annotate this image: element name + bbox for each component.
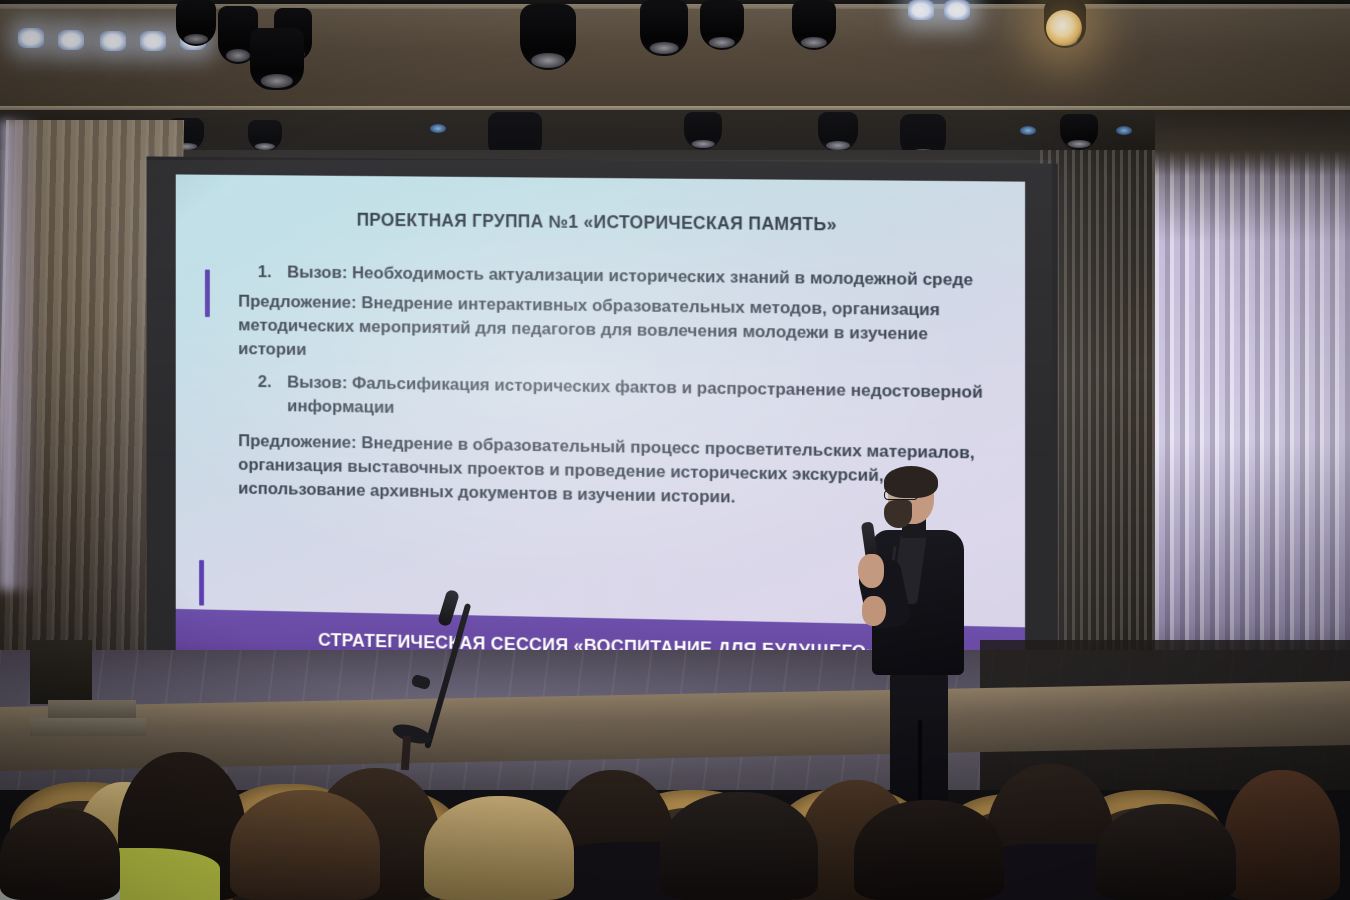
slide-paragraph: Предложение: Внедрение интерактивных обр… <box>232 290 990 372</box>
strip-lamp-icon <box>908 0 934 20</box>
strip-lamp-icon <box>18 28 44 48</box>
spotlight-can-icon <box>684 112 722 150</box>
spotlight-can-icon <box>700 0 744 50</box>
audience-head <box>854 800 1004 900</box>
curtain-left-glow <box>0 120 40 590</box>
curtain-right-header <box>1155 110 1350 176</box>
presenter-hair <box>884 466 938 498</box>
presenter-hand-lower <box>862 596 886 626</box>
audience-head <box>660 792 818 900</box>
slide-list-item: 2. Вызов: Фальсификация исторических фак… <box>232 369 990 429</box>
presenter-beard <box>884 500 912 528</box>
spotlight-can-icon <box>640 0 688 56</box>
moving-head-light-icon <box>250 28 304 90</box>
strip-lamp-icon <box>100 31 126 51</box>
blue-indicator-icon <box>1116 126 1132 135</box>
spotlight-can-icon <box>176 0 216 46</box>
auditorium-scene: ПРОЕКТНАЯ ГРУППА №1 «ИСТОРИЧЕСКАЯ ПАМЯТЬ… <box>0 0 1350 900</box>
blue-indicator-icon <box>430 124 446 133</box>
audience <box>0 700 1350 900</box>
strip-lamp-icon <box>140 31 166 51</box>
mic-stand-clamp <box>411 674 432 690</box>
stage-curtain-right-inner <box>1040 150 1160 710</box>
list-text: Вызов: Фальсификация исторических фактов… <box>287 370 990 429</box>
slide-accent-bar-bottom <box>199 560 204 606</box>
slide-list-item: 1. Вызов: Необходимость актуализации ист… <box>232 260 990 293</box>
stage-wall-pillar <box>30 640 92 704</box>
list-marker: 2. <box>258 370 287 418</box>
spotlight-can-icon <box>818 112 858 152</box>
list-marker: 1. <box>258 260 287 284</box>
audience-head <box>424 796 574 900</box>
slide-title: ПРОЕКТНАЯ ГРУППА №1 «ИСТОРИЧЕСКАЯ ПАМЯТЬ… <box>176 208 1025 237</box>
slide-accent-bar-top <box>205 270 210 318</box>
list-text: Вызов: Необходимость актуализации истори… <box>287 261 990 293</box>
spotlight-can-icon <box>792 0 836 50</box>
moving-head-light-icon <box>520 4 576 70</box>
audience-head <box>1096 804 1236 900</box>
audience-head <box>0 808 120 900</box>
strip-lamp-icon <box>944 0 970 20</box>
stage-curtain-right <box>1155 110 1350 710</box>
blue-indicator-icon <box>1020 126 1036 135</box>
audience-head <box>230 790 380 900</box>
warm-spotlight-icon <box>1046 10 1082 46</box>
strip-lamp-icon <box>58 30 84 50</box>
presenter-hand-upper <box>858 554 884 588</box>
audience-head <box>1224 770 1340 900</box>
